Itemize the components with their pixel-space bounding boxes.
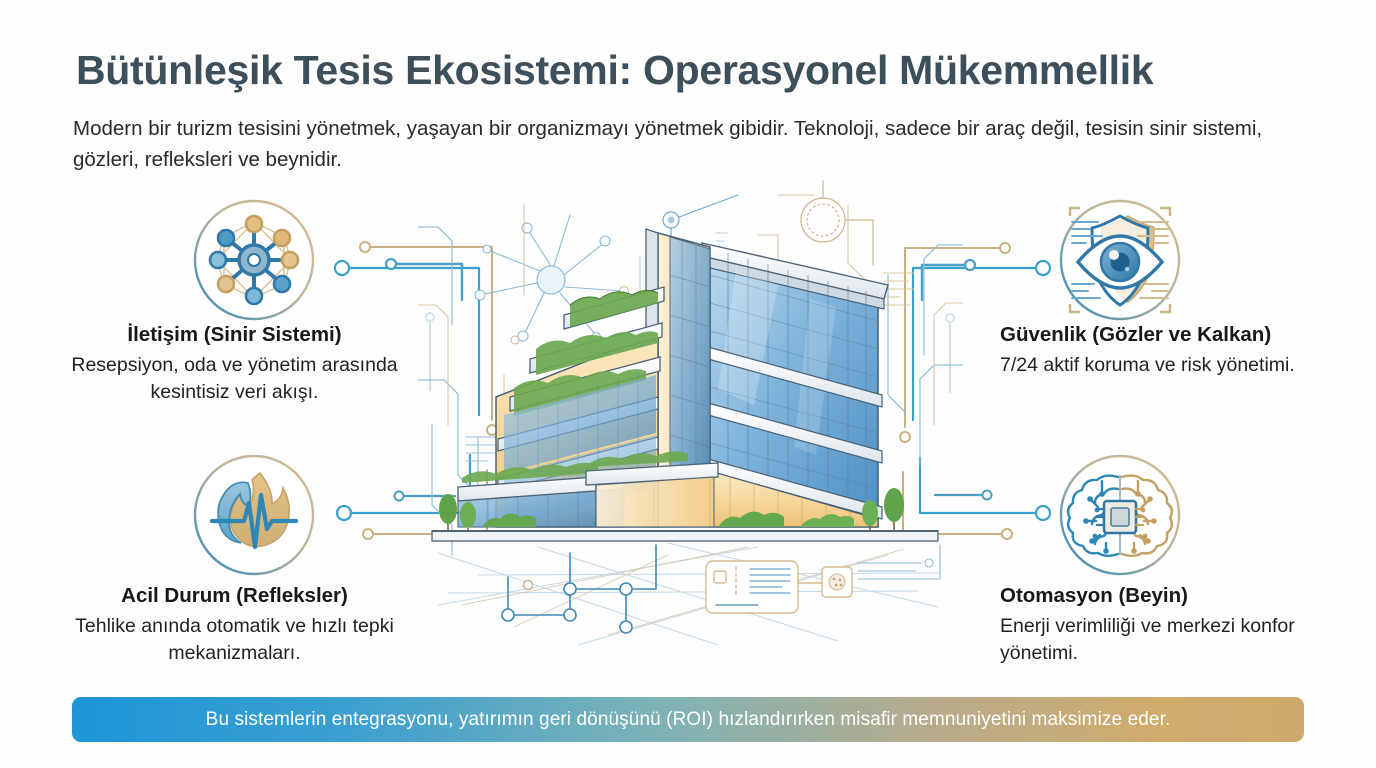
feature-emergency-description: Tehlike anında otomatik ve hızlı tepki m… xyxy=(62,613,407,667)
feature-communication-description: Resepsiyon, oda ve yönetim arasında kesi… xyxy=(62,352,407,406)
feature-automation-description: Enerji verimliliği ve merkezi konfor yön… xyxy=(1000,613,1345,667)
footer-banner: Bu sistemlerin entegrasyonu, yatırımın g… xyxy=(72,697,1304,742)
feature-communication: İletişim (Sinir Sistemi) Resepsiyon, oda… xyxy=(62,322,407,405)
feature-communication-title: İletişim (Sinir Sistemi) xyxy=(62,322,407,348)
feature-automation-title: Otomasyon (Beyin) xyxy=(1000,583,1345,609)
shield-eye-icon[interactable] xyxy=(1056,196,1184,324)
feature-security: Güvenlik (Gözler ve Kalkan) 7/24 aktif k… xyxy=(1000,322,1345,379)
feature-emergency: Acil Durum (Refleksler) Tehlike anında o… xyxy=(62,583,407,666)
page-subtitle: Modern bir turizm tesisini yönetmek, yaş… xyxy=(73,113,1313,175)
infographic-canvas: Bütünleşik Tesis Ekosistemi: Operasyonel… xyxy=(0,0,1376,768)
flame-pulse-icon[interactable] xyxy=(190,451,318,579)
network-nodes-icon[interactable] xyxy=(190,196,318,324)
feature-security-title: Güvenlik (Gözler ve Kalkan) xyxy=(1000,322,1345,348)
smart-building-illustration xyxy=(418,175,963,687)
feature-automation: Otomasyon (Beyin) Enerji verimliliği ve … xyxy=(1000,583,1345,666)
feature-emergency-title: Acil Durum (Refleksler) xyxy=(62,583,407,609)
page-title: Bütünleşik Tesis Ekosistemi: Operasyonel… xyxy=(76,48,1306,93)
feature-security-description: 7/24 aktif koruma ve risk yönetimi. xyxy=(1000,352,1345,379)
brain-chip-icon[interactable] xyxy=(1056,451,1184,579)
footer-banner-text: Bu sistemlerin entegrasyonu, yatırımın g… xyxy=(206,709,1171,731)
